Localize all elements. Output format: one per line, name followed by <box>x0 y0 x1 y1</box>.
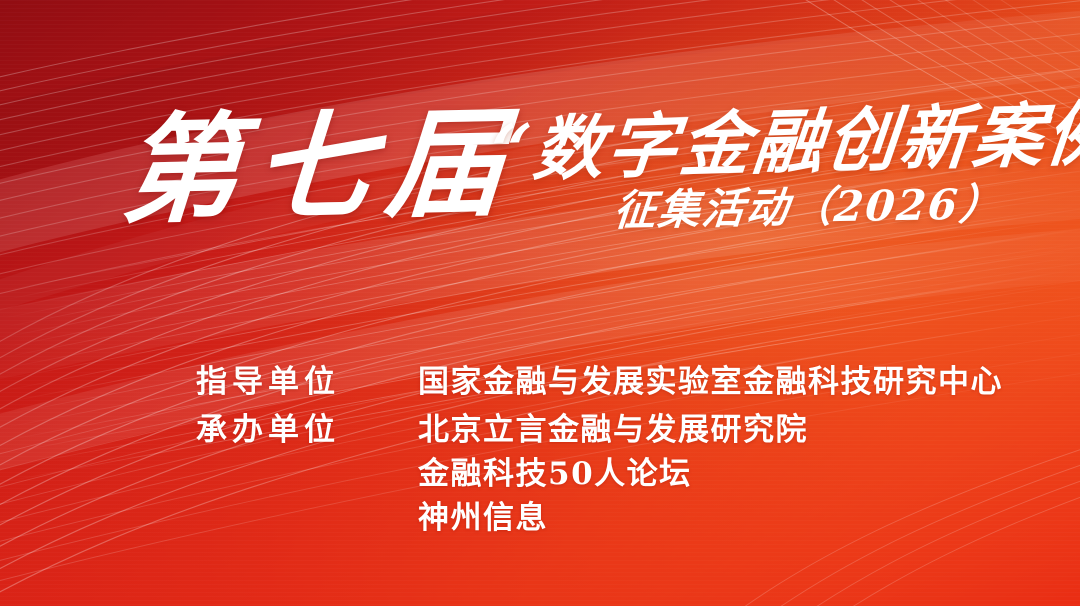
credit-label-organizer: 承办单位 <box>196 408 418 452</box>
credit-value: 神州信息 <box>418 496 1036 540</box>
credit-values: 国家金融与发展实验室金融科技研究中心 <box>418 360 1036 404</box>
credit-value: 北京立言金融与发展研究院 <box>418 408 1036 452</box>
credits-block: 指导单位 国家金融与发展实验室金融科技研究中心 承办单位 北京立言金融与发展研究… <box>196 360 1036 544</box>
content-layer: 第七届 “数字金融创新案例” 征集活动（2026） 指导单位 国家金融与发展实验… <box>0 0 1080 606</box>
credit-label-guidance: 指导单位 <box>196 360 418 404</box>
credit-row: 承办单位 北京立言金融与发展研究院 金融科技50人论坛 神州信息 <box>196 408 1036 540</box>
page-title-quoted: “数字金融创新案例” <box>487 97 1080 186</box>
page-subtitle: 征集活动（2026） <box>612 183 1005 232</box>
credit-value: 国家金融与发展实验室金融科技研究中心 <box>418 360 1036 404</box>
poster-canvas: 第七届 “数字金融创新案例” 征集活动（2026） 指导单位 国家金融与发展实验… <box>0 0 1080 606</box>
page-title-main: 第七届 <box>118 104 523 230</box>
credit-row: 指导单位 国家金融与发展实验室金融科技研究中心 <box>196 360 1036 404</box>
credit-values: 北京立言金融与发展研究院 金融科技50人论坛 神州信息 <box>418 408 1036 540</box>
credit-value: 金融科技50人论坛 <box>418 452 1036 496</box>
